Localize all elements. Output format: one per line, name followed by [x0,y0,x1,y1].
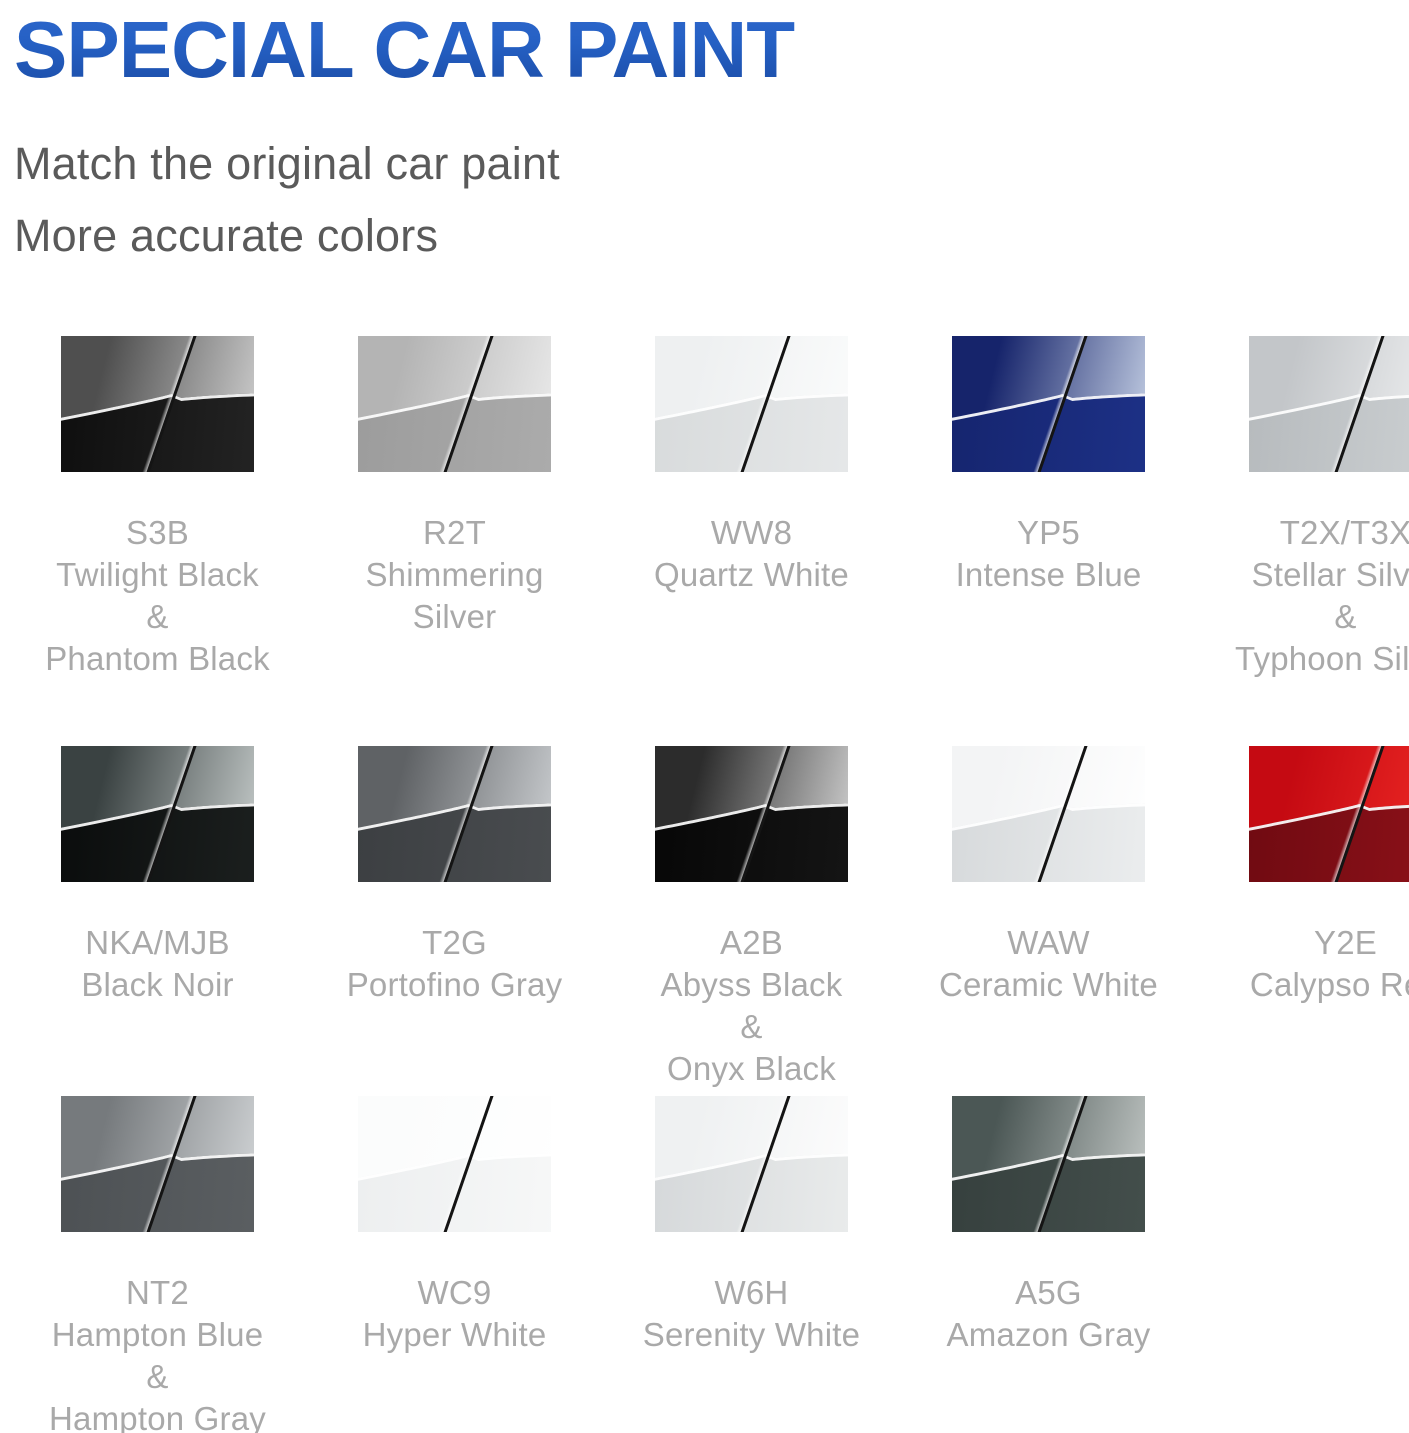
paint-code: YP5 [908,512,1189,554]
subtitle-line-1: Match the original car paint [14,128,1409,200]
paint-name: Serenity White [611,1314,892,1356]
paint-swatch-caption: T2GPortofino Gray [314,922,595,1006]
paint-swatch-cell[interactable]: A2BAbyss Black&Onyx Black [611,746,892,1096]
paint-swatch-caption: WW8Quartz White [611,512,892,596]
paint-swatch-caption: WC9Hyper White [314,1272,595,1356]
paint-name: Calypso Red [1205,964,1409,1006]
paint-name: Hampton Gray [17,1398,298,1433]
paint-swatch-image [358,1096,551,1232]
paint-code: T2X/T3X [1205,512,1409,554]
paint-name: Ceramic White [908,964,1189,1006]
paint-name: & [1205,596,1409,638]
paint-swatch-image [1249,336,1409,472]
page-title: SPECIAL CAR PAINT [14,4,1409,96]
subtitle-line-2: More accurate colors [14,200,1409,272]
swatch-row-3: NT2Hampton Blue&Hampton GrayWC9Hyper Whi… [0,1096,1409,1433]
paint-swatch-caption: NT2Hampton Blue&Hampton Gray [17,1272,298,1433]
paint-swatch-image [952,746,1145,882]
paint-swatch-cell[interactable]: WAWCeramic White [908,746,1189,1096]
paint-name: Hampton Blue [17,1314,298,1356]
paint-swatch-caption: Y2ECalypso Red [1205,922,1409,1006]
paint-name: Abyss Black [611,964,892,1006]
paint-name: Portofino Gray [314,964,595,1006]
paint-swatch-image [1249,746,1409,882]
paint-code: WC9 [314,1272,595,1314]
paint-swatch-caption: YP5Intense Blue [908,512,1189,596]
paint-swatch-image [61,1096,254,1232]
paint-swatch-cell[interactable]: S3BTwilight Black&Phantom Black [17,336,298,746]
paint-swatch-cell[interactable]: WW8Quartz White [611,336,892,746]
paint-swatch-cell[interactable]: WC9Hyper White [314,1096,595,1433]
paint-name: Typhoon Silver [1205,638,1409,680]
header: SPECIAL CAR PAINT Match the original car… [0,0,1409,272]
paint-code: WAW [908,922,1189,964]
paint-swatch-caption: R2TShimmeringSilver [314,512,595,638]
subtitle-block: Match the original car paint More accura… [14,128,1409,272]
paint-name: Silver [314,596,595,638]
paint-swatch-cell[interactable]: Y2ECalypso Red [1205,746,1409,1096]
paint-swatch-caption: A2BAbyss Black&Onyx Black [611,922,892,1090]
paint-swatch-caption: A5GAmazon Gray [908,1272,1189,1356]
paint-name: Stellar Silver [1205,554,1409,596]
paint-swatch-cell[interactable]: W6HSerenity White [611,1096,892,1433]
paint-name: Hyper White [314,1314,595,1356]
paint-swatch-image [655,746,848,882]
swatch-row-1: S3BTwilight Black&Phantom BlackR2TShimme… [0,336,1409,746]
paint-swatch-caption: T2X/T3XStellar Silver&Typhoon Silver [1205,512,1409,680]
paint-name: Onyx Black [611,1048,892,1090]
paint-code: NKA/MJB [17,922,298,964]
paint-code: WW8 [611,512,892,554]
paint-swatch-cell[interactable]: T2X/T3XStellar Silver&Typhoon Silver [1205,336,1409,746]
paint-code: W6H [611,1272,892,1314]
paint-code: A2B [611,922,892,964]
paint-name: Amazon Gray [908,1314,1189,1356]
paint-name: Twilight Black [17,554,298,596]
paint-name: & [17,1356,298,1398]
paint-swatch-caption: S3BTwilight Black&Phantom Black [17,512,298,680]
paint-swatch-caption: WAWCeramic White [908,922,1189,1006]
paint-swatch-image [952,1096,1145,1232]
paint-swatch-image [358,746,551,882]
paint-swatch-caption: NKA/MJBBlack Noir [17,922,298,1006]
paint-swatch-image [655,336,848,472]
paint-code: S3B [17,512,298,554]
paint-code: NT2 [17,1272,298,1314]
paint-name: & [611,1006,892,1048]
paint-swatch-cell[interactable]: NT2Hampton Blue&Hampton Gray [17,1096,298,1433]
paint-swatch-cell[interactable]: YP5Intense Blue [908,336,1189,746]
paint-code: Y2E [1205,922,1409,964]
paint-code: A5G [908,1272,1189,1314]
paint-swatch-image [61,746,254,882]
paint-swatch-cell[interactable]: A5GAmazon Gray [908,1096,1189,1433]
paint-swatch-grid: S3BTwilight Black&Phantom BlackR2TShimme… [0,336,1409,1433]
paint-swatch-caption: W6HSerenity White [611,1272,892,1356]
paint-swatch-image [655,1096,848,1232]
paint-swatch-image [61,336,254,472]
paint-name: Intense Blue [908,554,1189,596]
paint-code: R2T [314,512,595,554]
paint-code: T2G [314,922,595,964]
paint-name: & [17,596,298,638]
paint-swatch-cell[interactable]: NKA/MJBBlack Noir [17,746,298,1096]
paint-swatch-cell[interactable]: T2GPortofino Gray [314,746,595,1096]
paint-swatch-image [358,336,551,472]
paint-name: Phantom Black [17,638,298,680]
paint-swatch-cell[interactable]: R2TShimmeringSilver [314,336,595,746]
special-car-paint-infographic: SPECIAL CAR PAINT Match the original car… [0,0,1409,1433]
paint-name: Shimmering [314,554,595,596]
paint-name: Black Noir [17,964,298,1006]
swatch-row-2: NKA/MJBBlack NoirT2GPortofino GrayA2BAby… [0,746,1409,1096]
paint-name: Quartz White [611,554,892,596]
paint-swatch-image [952,336,1145,472]
